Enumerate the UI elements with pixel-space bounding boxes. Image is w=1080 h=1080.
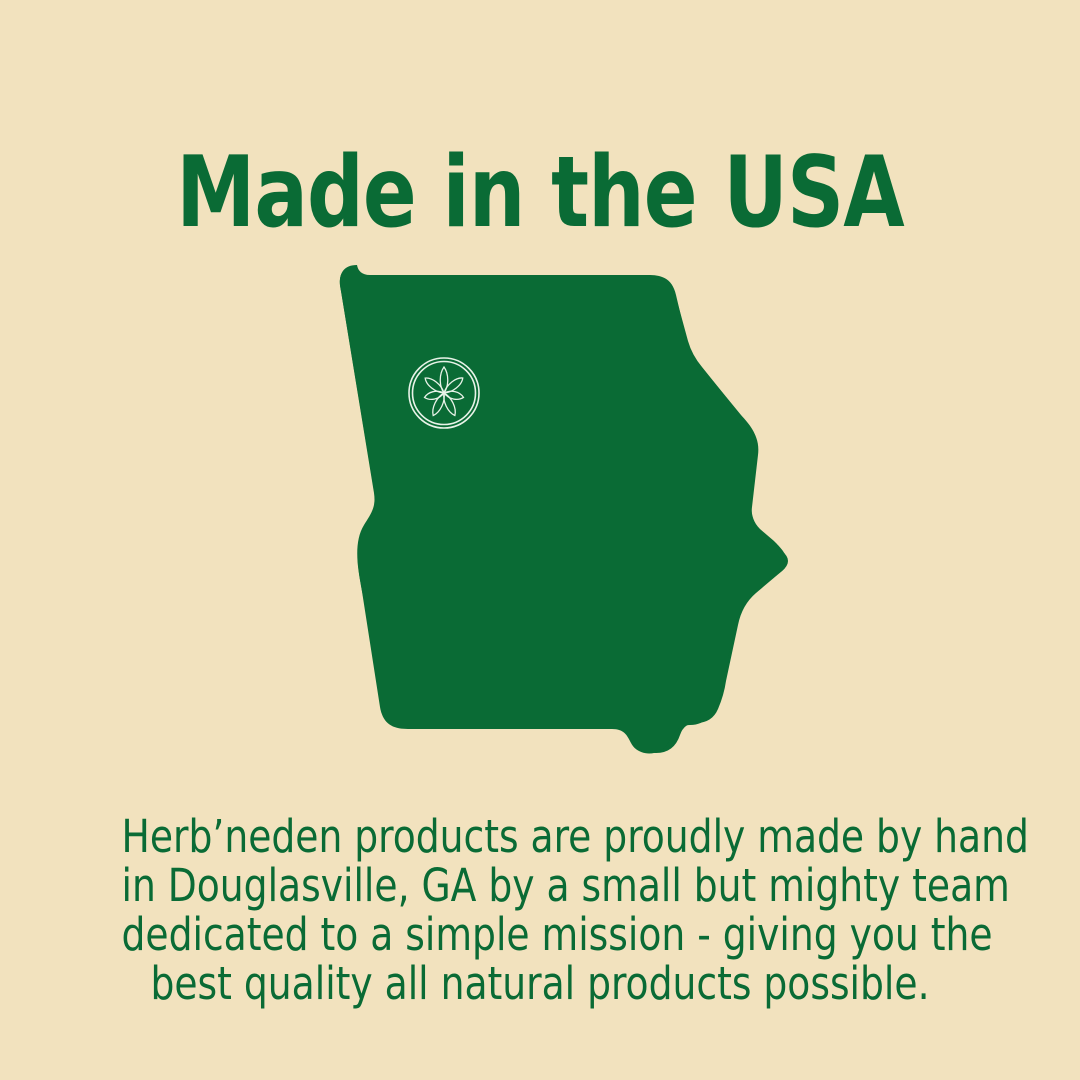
badge-outer-ring — [409, 358, 479, 428]
body-copy-line: Herb’neden products are proudly made by … — [122, 812, 959, 861]
page-title: Made in the USA — [54, 144, 1026, 242]
body-copy: Herb’neden products are proudly made by … — [90, 812, 990, 1008]
georgia-state-silhouette — [340, 267, 788, 753]
georgia-state-map — [330, 245, 810, 760]
body-copy-line: dedicated to a simple mission - giving y… — [122, 910, 959, 959]
made-in-usa-card: Made in the USA — [0, 0, 1080, 1080]
body-copy-line: best quality all natural products possib… — [122, 959, 959, 1008]
leaf-rosette-icon — [423, 367, 465, 417]
georgia-state-silhouette-detail — [340, 265, 787, 754]
badge-inner-ring — [413, 362, 476, 425]
body-copy-line: in Douglasville, GA by a small but might… — [122, 861, 959, 910]
